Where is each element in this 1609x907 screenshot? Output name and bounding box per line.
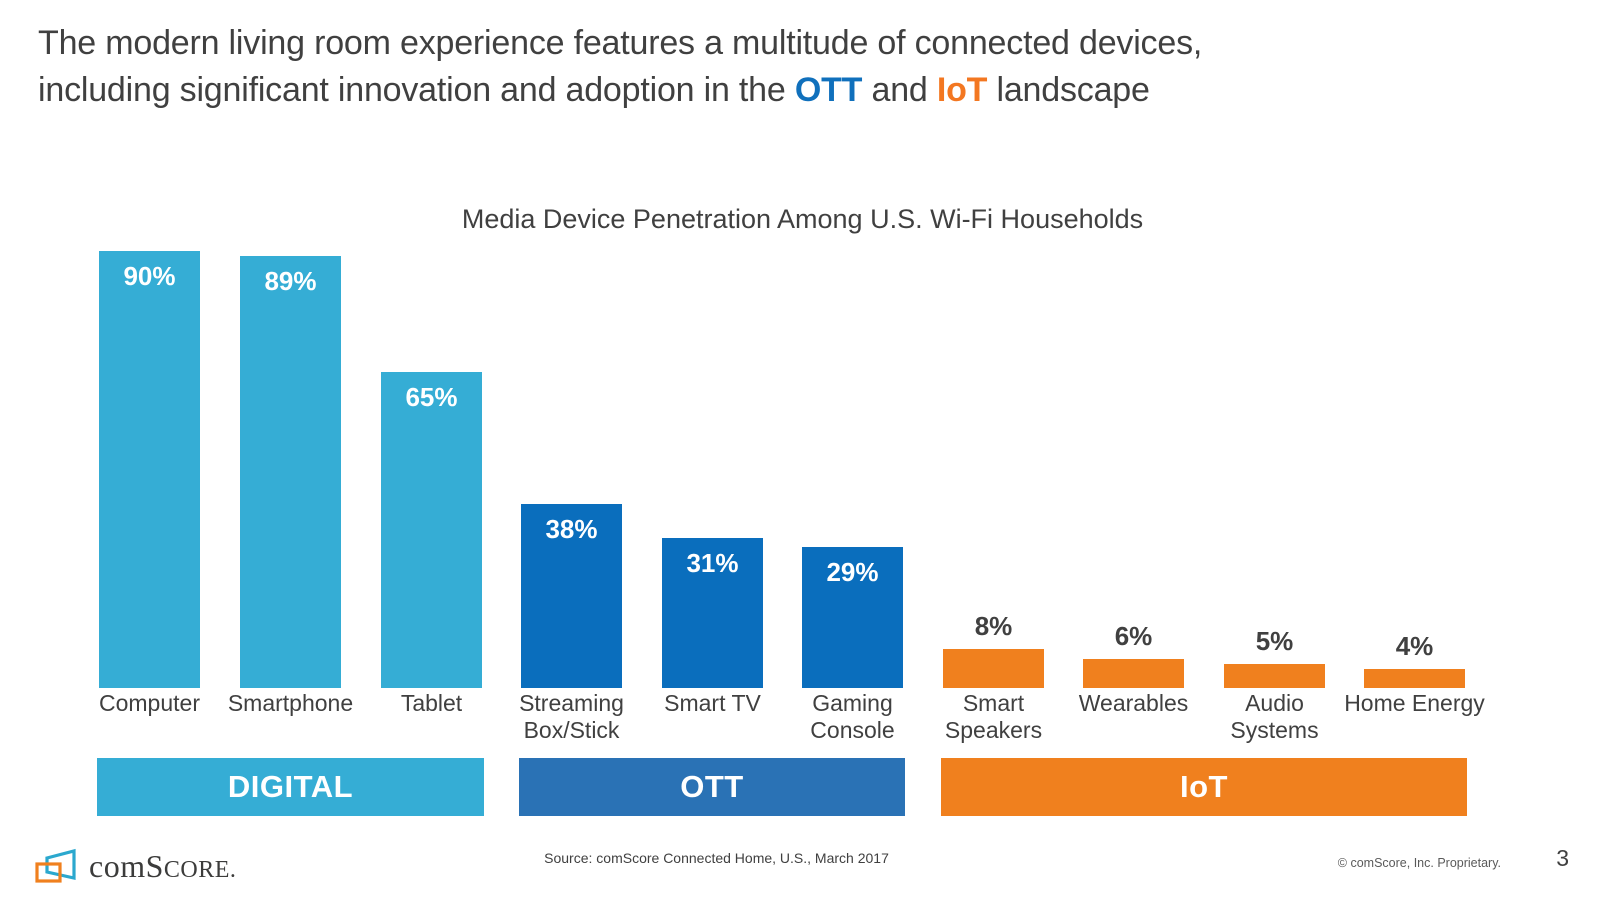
category-label-line: Smart — [963, 690, 1024, 716]
group-banner-label: IoT — [1180, 769, 1228, 804]
bar-value-label: 31% — [662, 548, 763, 579]
slide: The modern living room experience featur… — [0, 0, 1609, 907]
bar-value-label: 65% — [381, 382, 482, 413]
category-label-line: Tablet — [401, 690, 462, 716]
category-label-line: Speakers — [945, 717, 1042, 743]
bar-smart-tv: 31% — [662, 538, 763, 689]
category-label-line: Systems — [1230, 717, 1318, 743]
category-label-line: Computer — [99, 690, 200, 716]
category-label-smart-tv: Smart TV — [634, 690, 791, 717]
group-banner-label: DIGITAL — [228, 769, 353, 804]
bar-chart-plot-area: 90%Computer89%Smartphone65%Tablet38%Stre… — [0, 0, 1609, 907]
category-label-line: Console — [810, 717, 894, 743]
bar-computer: 90% — [99, 251, 200, 688]
category-label-line: Gaming — [812, 690, 893, 716]
copyright-note: © comScore, Inc. Proprietary. — [1338, 856, 1501, 870]
bar-home-energy: 4% — [1364, 669, 1465, 688]
category-label-line: Streaming — [519, 690, 624, 716]
group-banner-iot: IoT — [941, 758, 1467, 816]
bar-wearables: 6% — [1083, 659, 1184, 688]
bar-smartphone: 89% — [240, 256, 341, 688]
category-label-line: Audio — [1245, 690, 1304, 716]
bar-smart-speakers: 8% — [943, 649, 1044, 688]
category-label-smartphone: Smartphone — [212, 690, 369, 717]
bar-value-label: 4% — [1364, 631, 1465, 662]
page-number: 3 — [1556, 845, 1569, 872]
category-label-line: Wearables — [1079, 690, 1189, 716]
bar-value-label: 6% — [1083, 621, 1184, 652]
category-label-audio-systems: AudioSystems — [1196, 690, 1353, 744]
bar-value-label: 90% — [99, 261, 200, 292]
bar-tablet: 65% — [381, 372, 482, 688]
category-label-line: Home Energy — [1344, 690, 1485, 716]
bar-value-label: 8% — [943, 611, 1044, 642]
category-label-wearables: Wearables — [1055, 690, 1212, 717]
bar-audio-systems: 5% — [1224, 664, 1325, 688]
bar-value-label: 38% — [521, 514, 622, 545]
category-label-line: Smartphone — [228, 690, 353, 716]
group-banner-ott: OTT — [519, 758, 905, 816]
group-banner-label: OTT — [680, 769, 744, 804]
bar-value-label: 29% — [802, 557, 903, 588]
group-banner-digital: DIGITAL — [97, 758, 484, 816]
category-label-gaming-console: GamingConsole — [774, 690, 931, 744]
bar-streaming-box-stick: 38% — [521, 504, 622, 688]
category-label-line: Box/Stick — [524, 717, 620, 743]
category-label-home-energy: Home Energy — [1336, 690, 1493, 717]
category-label-streaming-box-stick: StreamingBox/Stick — [493, 690, 650, 744]
bar-value-label: 89% — [240, 266, 341, 297]
category-label-tablet: Tablet — [353, 690, 510, 717]
category-label-computer: Computer — [71, 690, 228, 717]
category-label-smart-speakers: SmartSpeakers — [915, 690, 1072, 744]
category-label-line: Smart TV — [664, 690, 761, 716]
bar-value-label: 5% — [1224, 626, 1325, 657]
bar-gaming-console: 29% — [802, 547, 903, 688]
